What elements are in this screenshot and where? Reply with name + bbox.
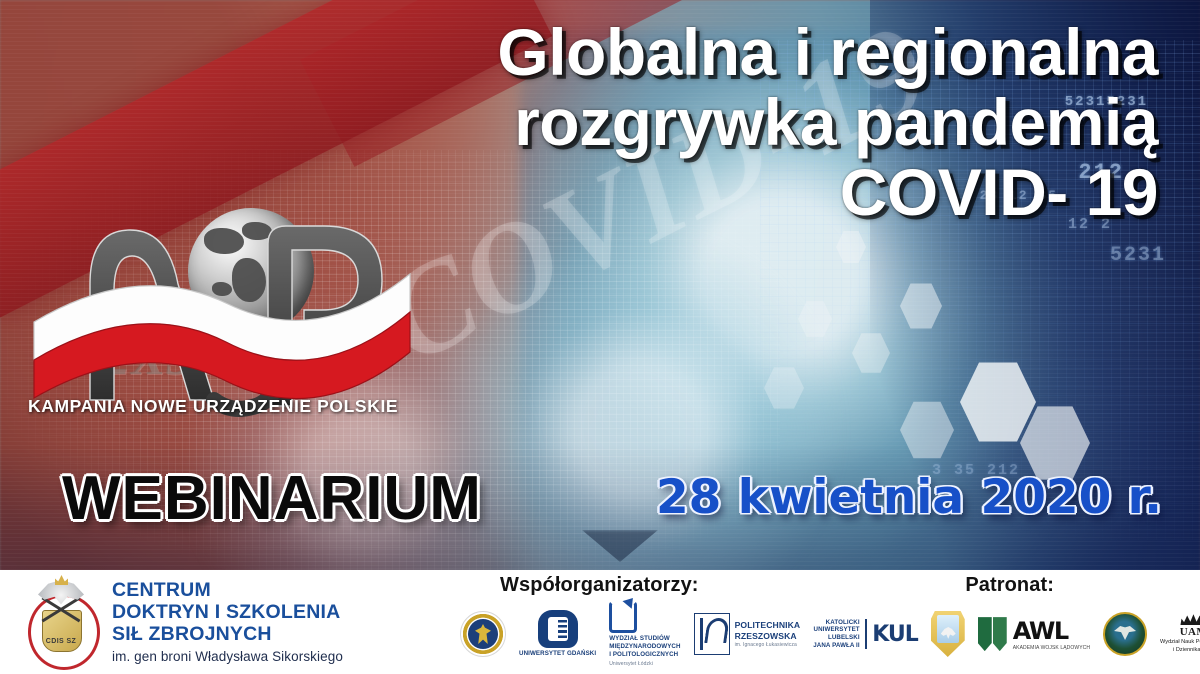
- pr-mark-icon: [694, 613, 730, 655]
- partner-sublabel: Uniwersytet Łódzki: [609, 661, 653, 667]
- partner-logo-uniwersytet-wroclawski: [460, 611, 506, 657]
- partner-logo-uam: UAM Wydział Nauk Politycznych i Dziennik…: [1160, 614, 1200, 654]
- partner-logo-kul: KATOLICKI UNIWERSYTET LUBELSKI JANA PAWŁ…: [813, 619, 918, 650]
- partner-logo-politechnika-rzeszowska: POLITECHNIKA RZESZOWSKA im. Ignacego Łuk…: [694, 613, 801, 655]
- partner-logo-wyzsza-szkola: [931, 611, 965, 657]
- eagle-emblem-icon: CDIS SZ: [22, 578, 100, 666]
- partner-sublabel: AKADEMIA WOJSK LĄDOWYCH: [1013, 645, 1090, 651]
- partner-label: KATOLICKI UNIWERSYTET LUBELSKI JANA PAWŁ…: [813, 619, 859, 650]
- partner-logo-row: UNIWERSYTET GDAŃSKI WYDZIAŁ STUDIÓW MIĘD…: [452, 602, 1200, 666]
- headline-line-2: rozgrywka pandemią: [278, 88, 1158, 158]
- partner-logo-uniwersytet-lodzki: WYDZIAŁ STUDIÓW MIĘDZYNARODOWYCH I POLIT…: [609, 601, 680, 667]
- emblem-label: CDIS SZ: [35, 638, 87, 645]
- kul-wordmark: KUL: [872, 622, 918, 647]
- partner-sublabel: Wydział Nauk Politycznych i Dziennikarst…: [1160, 639, 1200, 654]
- headline-line-1: Globalna i regionalna: [278, 18, 1158, 88]
- partner-logo-uniwersytet-gdanski: UNIWERSYTET GDAŃSKI: [519, 610, 596, 658]
- coorganizers-heading: Współorganizatorzy:: [500, 574, 699, 597]
- partner-sublabel: im. Ignacego Łukasiewicza: [735, 642, 801, 648]
- partner-logo-emblem-green: [1103, 612, 1147, 656]
- ul-arrow-icon: [609, 601, 637, 633]
- partner-label: POLITECHNIKA RZESZOWSKA: [735, 620, 801, 641]
- uam-crown-icon: [1180, 614, 1200, 625]
- patronage-heading: Patronat:: [965, 574, 1054, 597]
- footer-bar: CDIS SZ CENTRUM DOKTRYN I SZKOLENIA SIŁ …: [0, 570, 1200, 674]
- organizer-line-3: SIŁ ZBROJNYCH: [112, 624, 343, 646]
- awl-shield-icon: [978, 617, 1008, 651]
- military-emblem-icon: [1103, 612, 1147, 656]
- uam-wordmark: UAM: [1180, 626, 1200, 638]
- organizer-line-1: CENTRUM: [112, 580, 343, 602]
- partners-strip: Współorganizatorzy: Patronat: UNIWERSYTE…: [452, 570, 1200, 674]
- partner-label: WYDZIAŁ STUDIÓW MIĘDZYNARODOWYCH I POLIT…: [609, 635, 680, 658]
- campaign-logo: 2X35 KAMPANIA NOWE URZĄDZENIE POLSKIE: [18, 200, 438, 430]
- webinar-poster: COVID-19 52315231 23 12 35 212 12 2 5231…: [0, 0, 1200, 674]
- headline-line-3: COVID- 19: [278, 158, 1158, 228]
- organizer-line-2: DOKTRYN I SZKOLENIA: [112, 602, 343, 624]
- university-seal-icon: [460, 611, 506, 657]
- partner-logo-awl: AWL AKADEMIA WOJSK LĄDOWYCH: [978, 617, 1090, 651]
- ug-mark-icon: [538, 610, 578, 648]
- event-date: 28 kwietnia 2020 r.: [656, 470, 1162, 525]
- organizer-block: CDIS SZ CENTRUM DOKTRYN I SZKOLENIA SIŁ …: [0, 578, 452, 666]
- page-title: Globalna i regionalna rozgrywka pandemią…: [278, 18, 1158, 228]
- awl-wordmark: AWL: [1013, 617, 1090, 645]
- event-type-label: WEBINARIUM: [62, 463, 482, 534]
- crest-icon: [931, 611, 965, 657]
- campaign-logo-caption: KAMPANIA NOWE URZĄDZENIE POLSKIE: [28, 396, 398, 417]
- organizer-subtitle: im. gen broni Władysława Sikorskiego: [112, 649, 343, 664]
- partner-label: UNIWERSYTET GDAŃSKI: [519, 650, 596, 658]
